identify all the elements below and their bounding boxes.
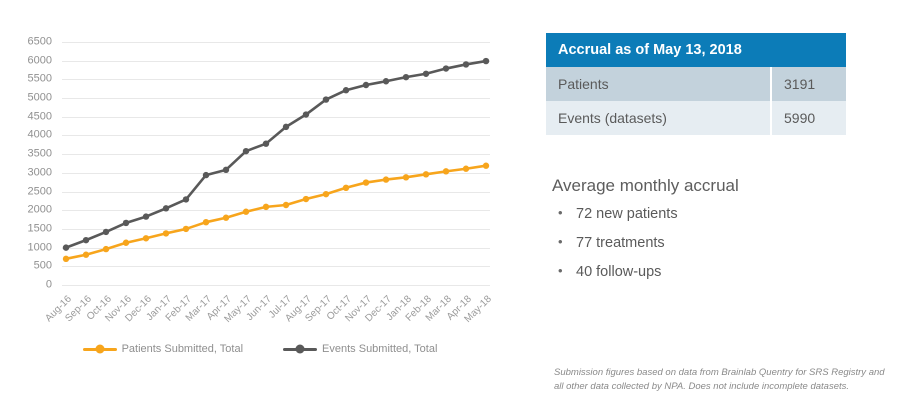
table-header-row: Accrual as of May 13, 2018 [546, 33, 846, 67]
row-value: 5990 [771, 101, 846, 135]
legend-label: Patients Submitted, Total [122, 343, 243, 355]
row-label: Events (datasets) [546, 101, 771, 135]
table-row: Patients 3191 [546, 67, 846, 101]
average-accrual-heading: Average monthly accrual [552, 176, 739, 196]
legend-color-swatch [83, 348, 117, 351]
info-panel: Accrual as of May 13, 2018 Patients 3191… [540, 0, 908, 400]
accrual-table: Accrual as of May 13, 2018 Patients 3191… [546, 33, 846, 135]
legend-item[interactable]: Patients Submitted, Total [83, 343, 243, 355]
row-label: Patients [546, 67, 771, 101]
table-body: Patients 3191 Events (datasets) 5990 [546, 67, 846, 135]
footnote-text: Submission figures based on data from Br… [554, 366, 894, 394]
table-title: Accrual as of May 13, 2018 [546, 33, 846, 67]
list-item: 40 follow-ups [554, 264, 678, 280]
list-item: 77 treatments [554, 235, 678, 251]
average-accrual-list: 72 new patients77 treatments40 follow-up… [554, 206, 678, 293]
x-axis-labels: Aug-16Sep-16Oct-16Nov-16Dec-16Jan-17Feb-… [0, 0, 520, 400]
legend-color-swatch [283, 348, 317, 351]
legend-item[interactable]: Events Submitted, Total [283, 343, 437, 355]
list-item: 72 new patients [554, 206, 678, 222]
row-value: 3191 [771, 67, 846, 101]
table-row: Events (datasets) 5990 [546, 101, 846, 135]
chart-legend: Patients Submitted, TotalEvents Submitte… [0, 343, 520, 355]
accrual-chart-panel: 0500100015002000250030003500400045005000… [0, 0, 520, 400]
legend-label: Events Submitted, Total [322, 343, 437, 355]
